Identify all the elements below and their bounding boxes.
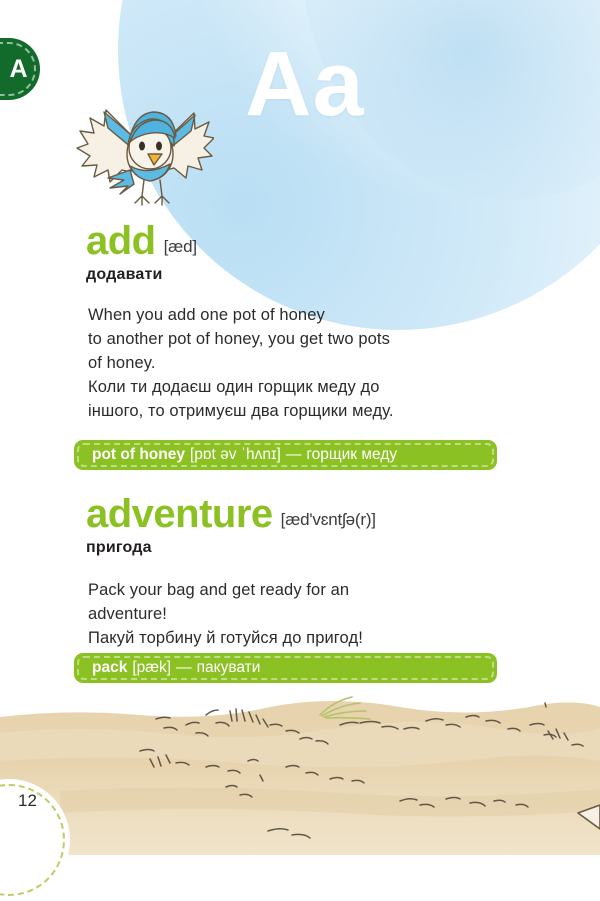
example-adventure-uk: Пакуй торбину й готуйся до пригод! bbox=[88, 626, 560, 650]
phrase-ipa-pack: [pæk] bbox=[132, 659, 171, 677]
phrase-translation-pack: пакувати bbox=[197, 659, 261, 677]
phrase-word-pot-of-honey: pot of honey bbox=[92, 446, 185, 464]
entry-adventure-header: adventure [æd'vɛntʃə(r)] пригода bbox=[0, 492, 600, 557]
phrase-word-pack: pack bbox=[92, 659, 127, 677]
blue-bird-icon bbox=[74, 86, 214, 212]
entry-add: add [æd] додавати bbox=[0, 219, 600, 284]
translation-adventure: пригода bbox=[86, 539, 600, 557]
headword-add: add bbox=[86, 219, 156, 263]
entry-adventure: adventure [æd'vɛntʃə(r)] пригода bbox=[0, 492, 600, 557]
example-add-en: When you add one pot of honey to another… bbox=[88, 303, 560, 375]
example-add: When you add one pot of honey to another… bbox=[0, 303, 600, 423]
example-adventure-en: Pack your bag and get ready for an adven… bbox=[88, 578, 560, 626]
letter-tab-label: A bbox=[9, 55, 28, 84]
phrase-bar-pack[interactable]: pack [pæk] — пакувати bbox=[74, 653, 497, 683]
page-number: 12 bbox=[18, 791, 37, 811]
sandy-ground-illustration bbox=[0, 695, 600, 855]
example-adventure: Pack your bag and get ready for an adven… bbox=[0, 578, 600, 650]
phrase-translation-pot-of-honey: горщик меду bbox=[306, 446, 397, 464]
example-add-uk: Коли ти додаєш один горщик меду до іншог… bbox=[88, 375, 560, 423]
phrase-bar-pot-of-honey[interactable]: pot of honey [pɒt əv ˈhʌnɪ] — горщик мед… bbox=[74, 440, 497, 470]
phrase-dash: — bbox=[286, 446, 302, 464]
phrase-ipa-pot-of-honey: [pɒt əv ˈhʌnɪ] bbox=[190, 446, 281, 464]
phrase-dash: — bbox=[176, 659, 192, 677]
ipa-adventure: [æd'vɛntʃə(r)] bbox=[281, 510, 376, 530]
headword-adventure: adventure bbox=[86, 492, 273, 536]
ipa-add: [æd] bbox=[164, 237, 197, 257]
page-title: Aa bbox=[245, 38, 365, 130]
entry-add-header: add [æd] додавати bbox=[0, 219, 600, 284]
translation-add: додавати bbox=[86, 266, 600, 284]
